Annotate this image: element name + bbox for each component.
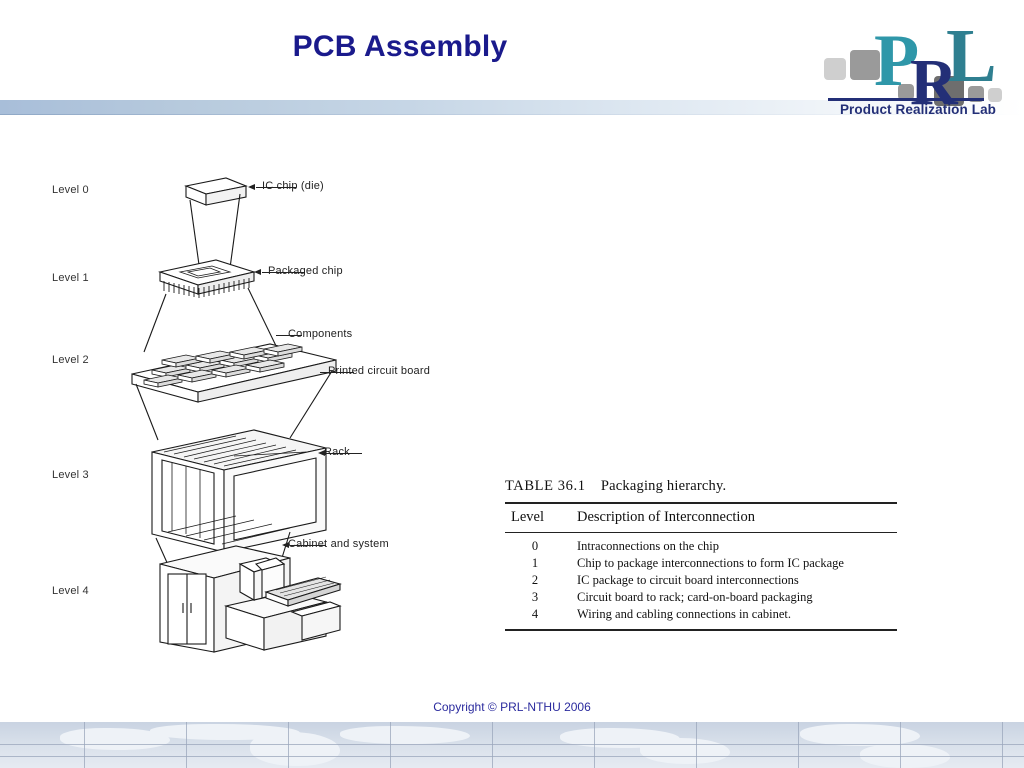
- packaging-hierarchy-figure: Level 0 Level 1 Level 2 Level 3 Level 4: [40, 160, 480, 670]
- map-gridline-vertical: [1002, 722, 1003, 768]
- table-body: 0 Intraconnections on the chip 1 Chip to…: [505, 533, 897, 629]
- ic-die-shape: [186, 178, 246, 205]
- page-title: PCB Assembly: [0, 30, 800, 64]
- table-header-row: Level Description of Interconnection: [505, 504, 897, 532]
- map-gridline-vertical: [390, 722, 391, 768]
- table-row: 3 Circuit board to rack; card-on-board p…: [505, 589, 897, 606]
- table-row: 2 IC package to circuit board interconne…: [505, 572, 897, 589]
- table-col-header-level: Level: [511, 509, 577, 526]
- map-gridline-horizontal: [0, 744, 1024, 745]
- map-gridline-vertical: [798, 722, 799, 768]
- table-caption-label: TABLE 36.1: [505, 478, 586, 494]
- packaged-chip-shape: [160, 260, 254, 298]
- table-cell-description: Wiring and cabling connections in cabine…: [577, 606, 791, 623]
- callout-label-cabinet: Cabinet and system: [288, 538, 389, 550]
- map-gridline-horizontal: [0, 756, 1024, 757]
- callout-label-ic-chip: IC chip (die): [262, 180, 324, 192]
- cabinet-system-shape: [160, 546, 340, 652]
- rack-shape: [152, 430, 326, 552]
- table-cell-description: Circuit board to rack; card-on-board pac…: [577, 589, 813, 606]
- map-landmass: [340, 726, 470, 744]
- table-cell-description: IC package to circuit board interconnect…: [577, 572, 799, 589]
- callout-arrow-ic-chip: [248, 184, 255, 190]
- prl-logo: L P R Product Realization Lab: [818, 14, 1010, 122]
- table-cell-level: 4: [511, 606, 577, 623]
- map-landmass: [640, 738, 730, 764]
- table-cell-level: 1: [511, 555, 577, 572]
- map-gridline-vertical: [594, 722, 595, 768]
- figure-linework: [40, 160, 480, 670]
- callout-arrow-packaged-chip: [254, 269, 261, 275]
- table-cell-level: 2: [511, 572, 577, 589]
- logo-square-light: [824, 58, 846, 80]
- map-gridline-vertical: [696, 722, 697, 768]
- callout-label-pcb: Printed circuit board: [328, 365, 430, 377]
- table-caption-text: Packaging hierarchy.: [601, 478, 726, 494]
- table-bottom-rule: [505, 629, 897, 631]
- map-landmass: [800, 724, 920, 746]
- table-cell-description: Chip to package interconnections to form…: [577, 555, 844, 572]
- logo-wordmark: Product Realization Lab: [826, 102, 1010, 117]
- table-caption: TABLE 36.1 Packaging hierarchy.: [505, 478, 897, 495]
- callout-label-rack: Rack: [324, 446, 350, 458]
- copyright-text: Copyright © PRL-NTHU 2006: [0, 700, 1024, 714]
- callout-label-components: Components: [288, 328, 352, 340]
- packaging-hierarchy-table: TABLE 36.1 Packaging hierarchy. Level De…: [505, 478, 897, 631]
- map-gridline-vertical: [186, 722, 187, 768]
- footer-world-map-band: [0, 722, 1024, 768]
- map-landmass: [250, 732, 340, 766]
- table-cell-description: Intraconnections on the chip: [577, 538, 719, 555]
- map-gridline-vertical: [900, 722, 901, 768]
- table-cell-level: 0: [511, 538, 577, 555]
- logo-underline: [828, 98, 984, 101]
- table-cell-level: 3: [511, 589, 577, 606]
- map-gridline-vertical: [492, 722, 493, 768]
- table-row: 1 Chip to package interconnections to fo…: [505, 555, 897, 572]
- callout-label-packaged-chip: Packaged chip: [268, 265, 343, 277]
- table-col-header-description: Description of Interconnection: [577, 509, 755, 526]
- table-row: 4 Wiring and cabling connections in cabi…: [505, 606, 897, 623]
- map-gridline-vertical: [288, 722, 289, 768]
- table-row: 0 Intraconnections on the chip: [505, 538, 897, 555]
- map-gridline-vertical: [84, 722, 85, 768]
